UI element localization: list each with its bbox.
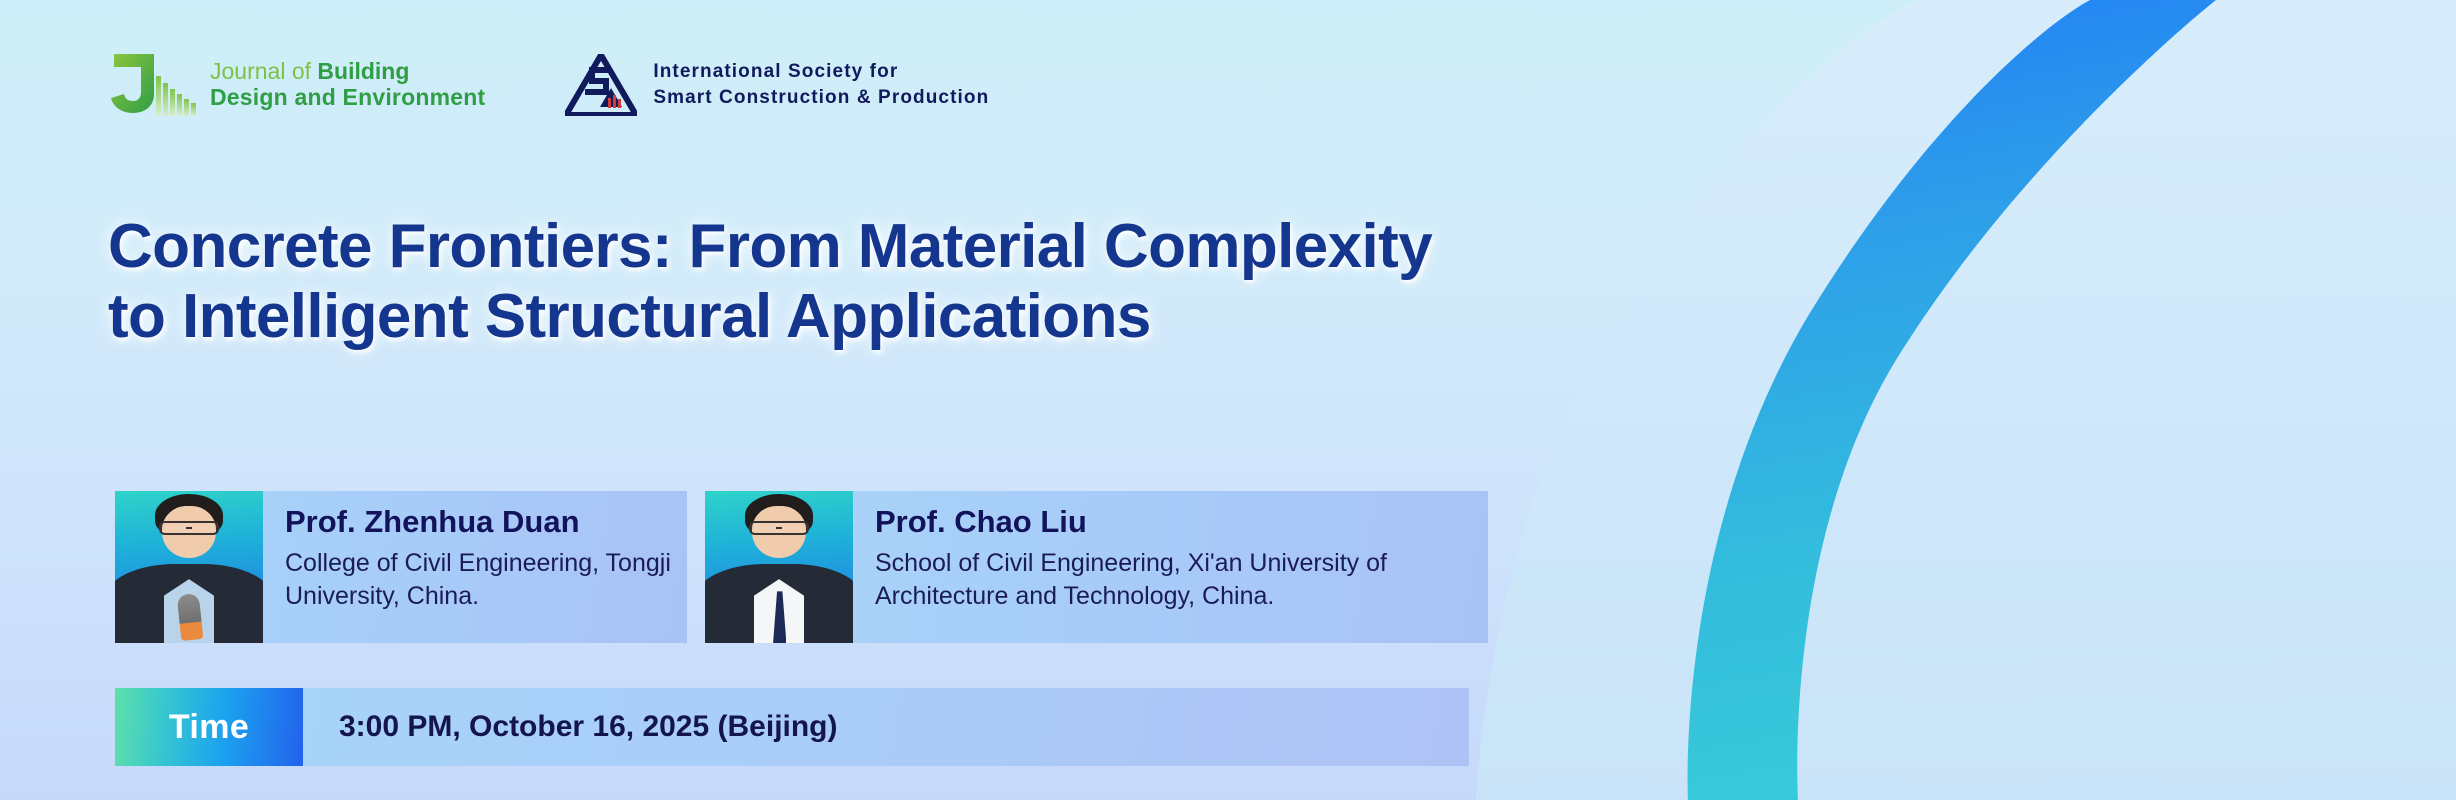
page-title: Concrete Frontiers: From Material Comple… [108, 212, 1468, 353]
journal-logo-text: Journal of Building Design and Environme… [210, 59, 485, 111]
speaker-card: Prof. Chao Liu School of Civil Engineeri… [705, 491, 1488, 643]
journal-logo-icon [110, 52, 196, 118]
speaker-name: Prof. Zhenhua Duan [285, 505, 687, 539]
time-value: 3:00 PM, October 16, 2025 (Beijing) [303, 688, 838, 766]
speaker-info: Prof. Chao Liu School of Civil Engineeri… [853, 491, 1488, 643]
time-bar: Time 3:00 PM, October 16, 2025 (Beijing) [115, 688, 1469, 766]
time-label-badge: Time [115, 688, 303, 766]
journal-logo: Journal of Building Design and Environme… [110, 52, 485, 118]
webinar-banner: Journal of Building Design and Environme… [0, 0, 2456, 800]
speaker-affiliation: College of Civil Engineering, Tongji Uni… [285, 547, 687, 612]
journal-logo-line1-plain: Journal of [210, 58, 317, 84]
avatar [705, 491, 853, 643]
society-logo-line1: International Society for [653, 59, 989, 85]
society-logo-line2: Smart Construction & Production [653, 85, 989, 111]
speaker-name: Prof. Chao Liu [875, 505, 1488, 539]
society-logo-text: International Society for Smart Construc… [653, 59, 989, 110]
speaker-info: Prof. Zhenhua Duan College of Civil Engi… [263, 491, 687, 643]
avatar [115, 491, 263, 643]
speaker-affiliation: School of Civil Engineering, Xi'an Unive… [875, 547, 1488, 612]
journal-logo-bars [156, 76, 196, 116]
journal-logo-line2: Design and Environment [210, 85, 485, 111]
logo-row: Journal of Building Design and Environme… [110, 52, 989, 118]
society-logo: International Society for Smart Construc… [565, 54, 989, 116]
society-logo-icon [565, 54, 637, 116]
speaker-list: Prof. Zhenhua Duan College of Civil Engi… [115, 491, 1488, 643]
speaker-card: Prof. Zhenhua Duan College of Civil Engi… [115, 491, 687, 643]
journal-logo-line1-bold: Building [317, 58, 409, 84]
